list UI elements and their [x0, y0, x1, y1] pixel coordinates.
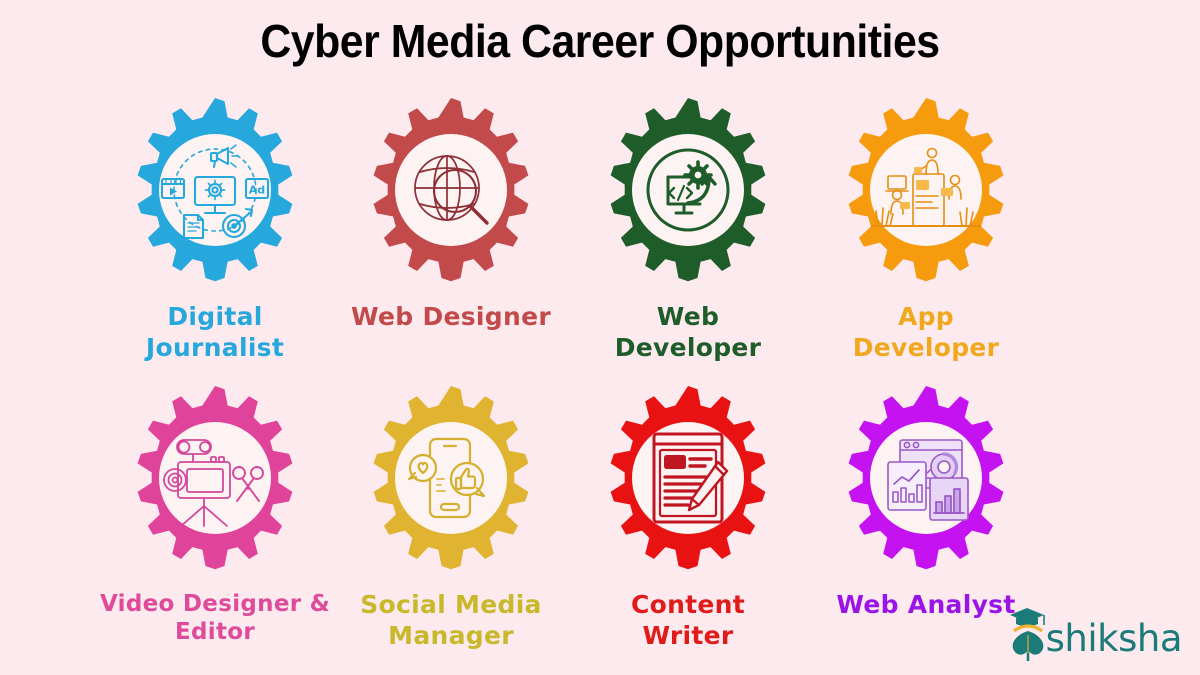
career-card-digital-journalist[interactable]: Ad: [95, 96, 335, 363]
phone-like-heart-icon: [351, 384, 551, 584]
svg-text:Ad: Ad: [249, 184, 265, 197]
gear-wrap: [568, 96, 808, 296]
career-label: Video Designer & Editor: [95, 590, 335, 646]
career-card-content-writer[interactable]: Content Writer: [568, 384, 808, 651]
analytics-dashboard-icon: [826, 384, 1026, 584]
infographic-canvas: Cyber Media Career Opportunities: [0, 0, 1200, 675]
gear-wrap: [568, 384, 808, 584]
career-label: Web Designer: [331, 302, 571, 333]
career-card-web-designer[interactable]: Web Designer: [331, 96, 571, 333]
video-camera-scissors-icon: [115, 384, 315, 584]
career-card-app-developer[interactable]: App Developer: [806, 96, 1046, 363]
article-pencil-icon: [588, 384, 788, 584]
gear-wrap: [331, 384, 571, 584]
digital-marketing-icon: Ad: [115, 96, 315, 296]
app-development-team-icon: [826, 96, 1026, 296]
career-card-web-developer[interactable]: Web Developer: [568, 96, 808, 363]
gear-wrap: [806, 384, 1046, 584]
globe-magnifier-icon: [351, 96, 551, 296]
career-label: Content Writer: [568, 590, 808, 651]
gear-wrap: [331, 96, 571, 296]
career-label: Social Media Manager: [331, 590, 571, 651]
career-label: Web Developer: [568, 302, 808, 363]
page-title: Cyber Media Career Opportunities: [42, 14, 1158, 68]
code-monitor-gear-icon: [588, 96, 788, 296]
career-label: App Developer: [806, 302, 1046, 363]
gear-wrap: Ad: [95, 96, 335, 296]
career-card-web-analyst[interactable]: Web Analyst: [806, 384, 1046, 621]
career-label: Digital Journalist: [95, 302, 335, 363]
career-grid: Ad: [0, 96, 1200, 666]
graduation-cap-icon: [1006, 605, 1050, 661]
gear-wrap: [806, 96, 1046, 296]
career-card-social-media-manager[interactable]: Social Media Manager: [331, 384, 571, 651]
logo-wordmark: shiksha: [1046, 620, 1182, 657]
shiksha-logo[interactable]: shiksha: [1006, 603, 1182, 661]
gear-wrap: [95, 384, 335, 584]
career-card-video-designer-editor[interactable]: Video Designer & Editor: [95, 384, 335, 646]
